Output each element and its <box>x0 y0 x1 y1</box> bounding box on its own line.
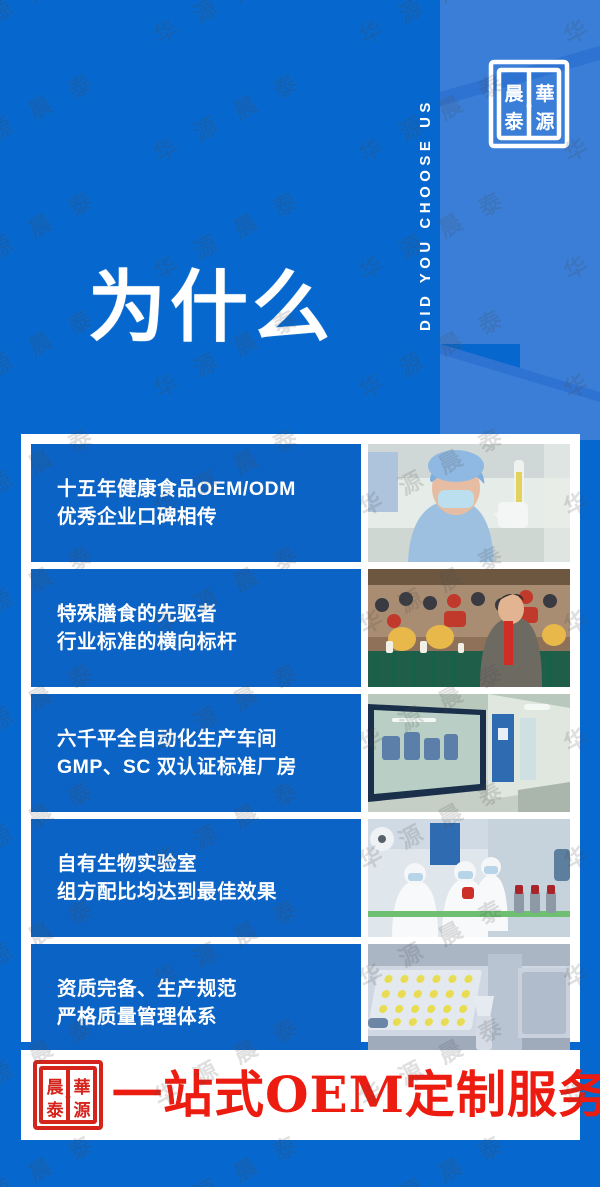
feature-textbox: 十五年健康食品OEM/ODM 优秀企业口碑相传 <box>31 444 361 562</box>
photo-cleanroom-corridor <box>368 694 570 812</box>
svg-text:華: 華 <box>74 1078 91 1098</box>
header: 为什么 选择 我们？ DID YOU CHOOSE US 晨 泰 華 源 <box>0 0 600 436</box>
svg-text:晨: 晨 <box>504 83 524 105</box>
feature-line-1: 特殊膳食的先驱者 <box>57 600 361 628</box>
svg-text:晨: 晨 <box>47 1078 65 1098</box>
feature-row: 自有生物实验室 组方配比均达到最佳效果 <box>31 819 570 937</box>
feature-row: 资质完备、生产规范 严格质量管理体系 <box>31 944 570 1062</box>
feature-row: 十五年健康食品OEM/ODM 优秀企业口碑相传 <box>31 444 570 562</box>
bottom-banner: 晨 泰 華 源 一站式OEM定制服务 <box>21 1050 580 1140</box>
poster-root: 为什么 选择 我们？ DID YOU CHOOSE US 晨 泰 華 源 <box>0 0 600 1187</box>
svg-text:泰: 泰 <box>47 1100 65 1121</box>
feature-textbox: 自有生物实验室 组方配比均达到最佳效果 <box>31 819 361 937</box>
feature-line-1: 自有生物实验室 <box>57 850 361 878</box>
feature-textbox: 特殊膳食的先驱者 行业标准的横向标杆 <box>31 569 361 687</box>
feature-line-1: 六千平全自动化生产车间 <box>57 725 361 753</box>
feature-row: 六千平全自动化生产车间 GMP、SC 双认证标准厂房 <box>31 694 570 812</box>
feature-line-1: 十五年健康食品OEM/ODM <box>57 475 361 503</box>
feature-line-2: GMP、SC 双认证标准厂房 <box>57 753 361 781</box>
svg-text:源: 源 <box>74 1100 91 1121</box>
brand-seal-icon: 晨 泰 華 源 <box>486 56 572 152</box>
vertical-english-label: DID YOU CHOOSE US <box>400 20 434 410</box>
photo-lab-technician-inspecting-vial <box>368 444 570 562</box>
feature-line-2: 优秀企业口碑相传 <box>57 503 361 531</box>
feature-line-2: 行业标准的横向标杆 <box>57 628 361 656</box>
feature-textbox: 资质完备、生产规范 严格质量管理体系 <box>31 944 361 1062</box>
banner-slogan: 一站式OEM定制服务 <box>112 1067 600 1123</box>
photo-production-line-staff <box>368 819 570 937</box>
title-line-1: 为什么 <box>88 256 338 360</box>
brand-seal-red-icon: 晨 泰 華 源 <box>32 1059 104 1131</box>
feature-rows: 十五年健康食品OEM/ODM 优秀企业口碑相传 <box>31 444 570 1032</box>
svg-text:泰: 泰 <box>503 110 524 133</box>
feature-textbox: 六千平全自动化生产车间 GMP、SC 双认证标准厂房 <box>31 694 361 812</box>
svg-text:華: 華 <box>535 82 554 105</box>
photo-blister-packaging-machine <box>368 944 570 1062</box>
svg-text:源: 源 <box>535 110 554 133</box>
feature-line-2: 组方配比均达到最佳效果 <box>57 878 361 906</box>
feature-line-2: 严格质量管理体系 <box>57 1003 361 1031</box>
feature-row: 特殊膳食的先驱者 行业标准的横向标杆 <box>31 569 570 687</box>
photo-conference-audience <box>368 569 570 687</box>
feature-line-1: 资质完备、生产规范 <box>57 975 361 1003</box>
